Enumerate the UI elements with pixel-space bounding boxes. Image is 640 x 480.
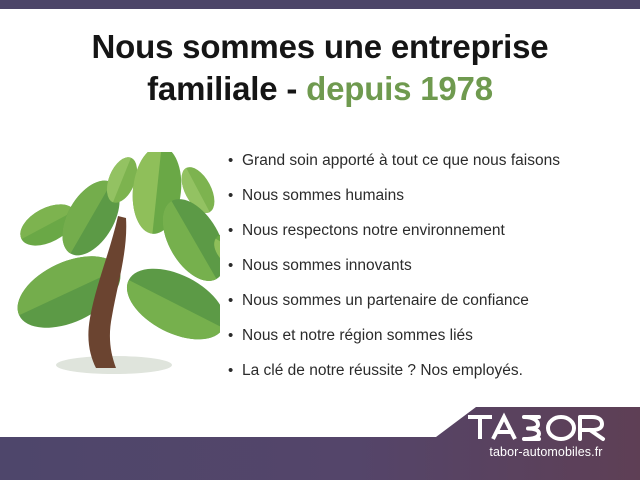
bullet-marker-icon: • xyxy=(228,325,242,347)
bullet-marker-icon: • xyxy=(228,220,242,242)
list-item: • Nous sommes humains xyxy=(228,185,638,220)
title-line-2: familiale - depuis 1978 xyxy=(0,68,640,110)
top-accent-bar xyxy=(0,0,640,9)
list-item: • Nous et notre région sommes liés xyxy=(228,325,638,360)
bullet-marker-icon: • xyxy=(228,185,242,207)
slide-canvas: Nous sommes une entreprise familiale - d… xyxy=(0,0,640,480)
list-item-label: La clé de notre réussite ? Nos employés. xyxy=(242,360,523,382)
title-accent-year: depuis 1978 xyxy=(306,70,493,107)
list-item: • La clé de notre réussite ? Nos employé… xyxy=(228,360,638,395)
brand-logo[interactable]: tabor-automobiles.fr xyxy=(466,412,626,459)
logo-tagline: tabor-automobiles.fr xyxy=(466,445,626,459)
tree-icon xyxy=(14,152,220,386)
bullet-marker-icon: • xyxy=(228,290,242,312)
list-item: • Nous sommes un partenaire de confiance xyxy=(228,290,638,325)
tree-illustration xyxy=(14,152,220,386)
list-item-label: Nous et notre région sommes liés xyxy=(242,325,473,347)
list-item: • Nous sommes innovants xyxy=(228,255,638,290)
bullet-marker-icon: • xyxy=(228,255,242,277)
page-title: Nous sommes une entreprise familiale - d… xyxy=(0,26,640,110)
list-item-label: Grand soin apporté à tout ce que nous fa… xyxy=(242,150,560,172)
list-item-label: Nous sommes innovants xyxy=(242,255,412,277)
list-item-label: Nous sommes humains xyxy=(242,185,404,207)
tabor-wordmark-icon xyxy=(466,412,616,442)
title-line-1: Nous sommes une entreprise xyxy=(0,26,640,68)
benefits-list: • Grand soin apporté à tout ce que nous … xyxy=(228,150,638,395)
footer-band: tabor-automobiles.fr xyxy=(0,400,640,480)
list-item-label: Nous respectons notre environnement xyxy=(242,220,505,242)
title-line-2-main: familiale - xyxy=(147,70,306,107)
list-item: • Nous respectons notre environnement xyxy=(228,220,638,255)
bullet-marker-icon: • xyxy=(228,360,242,382)
list-item-label: Nous sommes un partenaire de confiance xyxy=(242,290,529,312)
list-item: • Grand soin apporté à tout ce que nous … xyxy=(228,150,638,185)
bullet-marker-icon: • xyxy=(228,150,242,172)
